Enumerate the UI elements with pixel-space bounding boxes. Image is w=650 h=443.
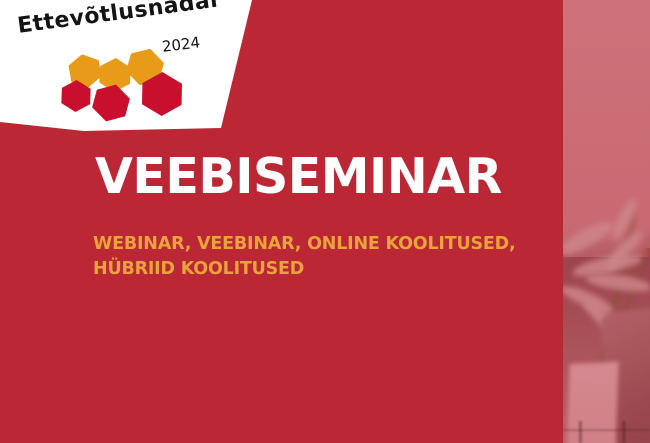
logo-banner: Ettevõtlusnädal 2024 xyxy=(0,0,265,150)
photo-red-tint-overlay-2 xyxy=(563,0,650,443)
headline-title: VEEBISEMINAR xyxy=(95,152,502,201)
subtitle-block: WEBINAR, VEEBINAR, ONLINE KOOLITUSED, HÜ… xyxy=(93,232,515,282)
subtitle-line-2: HÜBRIID KOOLITUSED xyxy=(93,257,515,282)
logo-hexagon xyxy=(88,80,135,127)
logo: Ettevõtlusnädal 2024 xyxy=(0,0,265,150)
promotional-banner: Ettevõtlusnädal 2024 VEEBISEMINAR WEBINA… xyxy=(0,0,650,443)
background-photo xyxy=(563,0,650,443)
subtitle-line-1: WEBINAR, VEEBINAR, ONLINE KOOLITUSED, xyxy=(93,232,515,257)
